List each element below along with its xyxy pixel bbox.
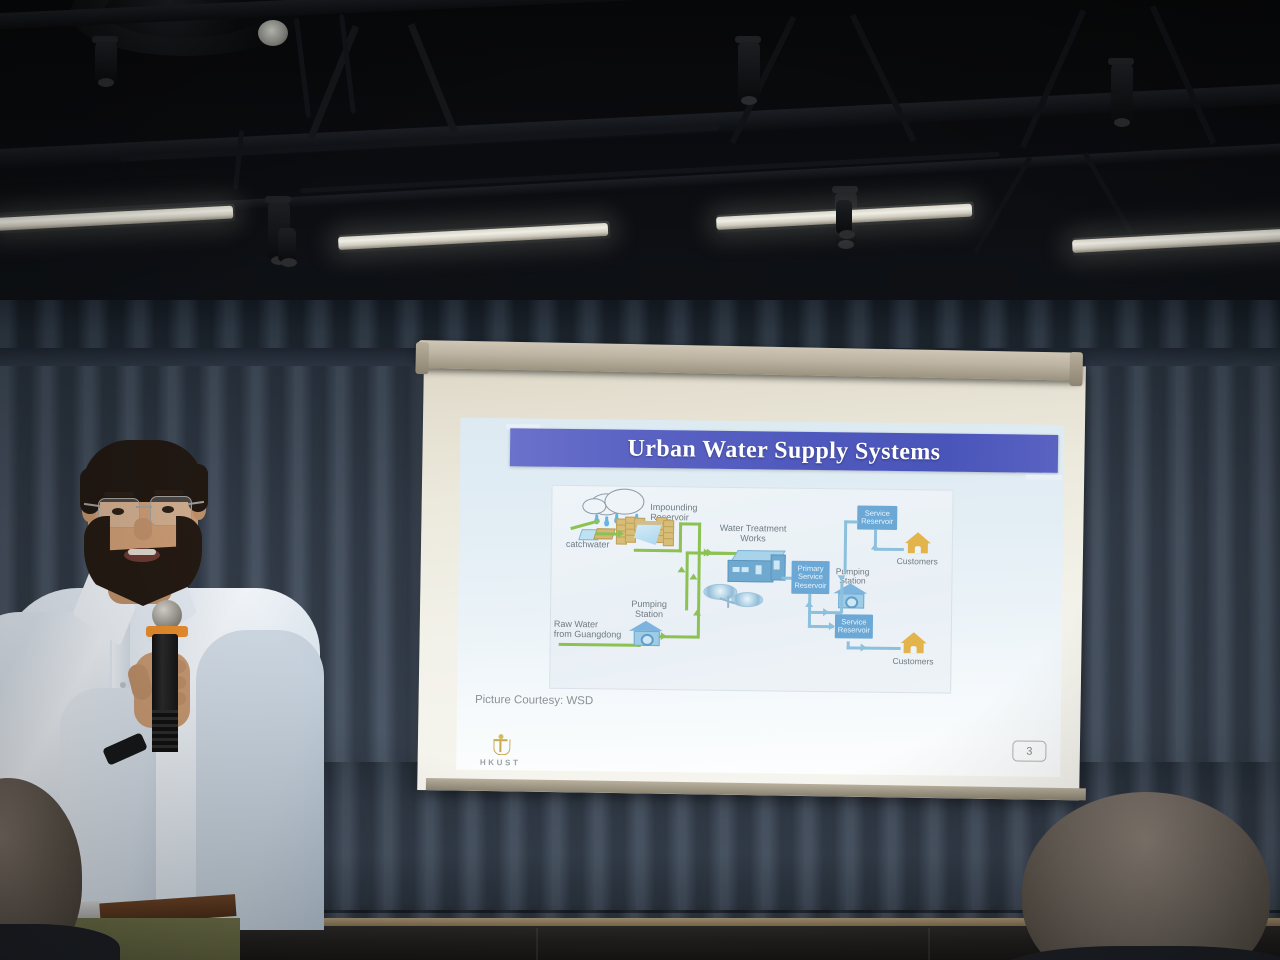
title-notch-right: [1026, 475, 1062, 480]
eyeglasses-bridge: [136, 506, 152, 508]
presenter-eye-right: [162, 506, 174, 513]
flow-arrow-icon: [861, 644, 867, 652]
cloud-icon: [604, 488, 644, 514]
label-customers-lower: Customers: [892, 657, 933, 667]
presenter-teeth: [128, 549, 156, 555]
catchwater-icon: [570, 523, 612, 540]
flow-arrow-icon: [689, 573, 697, 579]
label-pumping-station-left: Pumping Station: [628, 600, 670, 620]
hkust-emblem-icon: [492, 734, 509, 756]
presenter-eyebrow-right: [154, 490, 184, 495]
screen-case-end-left: [415, 342, 429, 374]
ceiling: [0, 0, 1280, 340]
raw-water-pipe-trunk: [697, 523, 701, 611]
screen-case-end-right: [1069, 352, 1083, 386]
raw-water-pipe: [596, 532, 620, 535]
treated-water-pipe: [874, 548, 904, 551]
presenter-eye-left: [112, 508, 124, 515]
page-number-value: 3: [1026, 745, 1032, 757]
floor-seam: [536, 928, 538, 960]
projector-screen-assembly: Urban Water Supply Systems Impounding Re…: [418, 326, 1090, 776]
raw-water-pipe: [732, 552, 734, 555]
cloud-icon: [582, 498, 606, 514]
primary-service-reservoir-box: Primary Service Reservoir: [791, 561, 829, 594]
slide-canvas: Urban Water Supply Systems Impounding Re…: [456, 418, 1064, 777]
hkust-logo-wordmark: HKUST: [474, 758, 526, 768]
pendant-spotlight: [278, 228, 296, 262]
microphone-grip-ridges: [152, 710, 178, 752]
impounding-reservoir-icon: [616, 517, 672, 550]
floor-seam: [928, 928, 930, 960]
treated-water-pipe: [847, 646, 901, 650]
flow-arrow-icon: [618, 530, 624, 538]
slide-title-bar: Urban Water Supply Systems: [510, 428, 1058, 473]
water-treatment-works-icon: [727, 550, 783, 583]
presenter-right-arm: [196, 630, 324, 930]
treated-water-pipe: [844, 520, 848, 572]
label-customers-upper: Customers: [897, 557, 938, 567]
flow-arrow-icon: [805, 601, 813, 607]
presentation-photo: Urban Water Supply Systems Impounding Re…: [0, 0, 1280, 960]
raw-water-pipe: [679, 522, 682, 552]
pendant-spotlight: [836, 200, 852, 234]
truss-diagonal: [408, 23, 459, 137]
presenter-hair: [82, 440, 204, 502]
spotlight-fixture: [738, 42, 760, 100]
raw-water-pipe: [685, 552, 689, 610]
projector-screen-surface: Urban Water Supply Systems Impounding Re…: [417, 356, 1086, 800]
label-water-treatment-works: Water Treatment Works: [718, 524, 788, 544]
treated-water-pipe: [840, 581, 843, 613]
service-reservoir-upper-box: Service Reservoir: [857, 505, 897, 529]
slide-title: Urban Water Supply Systems: [627, 435, 940, 466]
truss-diagonal: [973, 156, 1032, 254]
water-supply-diagram: Impounding Reservoir catchwater: [549, 485, 953, 694]
flow-arrow-icon: [823, 608, 829, 616]
flow-arrow-icon: [678, 566, 686, 572]
pumping-station-icon: [833, 583, 867, 607]
presenter-hair-side-left: [80, 468, 100, 514]
truss-diagonal: [1020, 9, 1086, 148]
label-catchwater: catchwater: [566, 540, 610, 550]
customer-house-icon: [900, 632, 928, 654]
flow-arrow-icon: [837, 575, 845, 581]
pumping-station-icon: [629, 621, 663, 645]
service-reservoir-lower-box: Service Reservoir: [835, 614, 873, 638]
hkust-logo: HKUST: [474, 734, 526, 768]
presenter-nose: [134, 518, 152, 540]
customer-house-icon: [904, 532, 932, 554]
ceiling-conduit-drop: [294, 18, 311, 118]
raw-water-pipe: [634, 549, 682, 553]
flow-arrow-icon: [693, 609, 701, 615]
spotlight-fixture: [95, 42, 117, 82]
picture-courtesy-text: Picture Courtesy: WSD: [475, 694, 593, 707]
label-raw-water-guangdong: Raw Water from Guangdong: [554, 620, 622, 640]
truss-diagonal: [1150, 5, 1216, 144]
spotlight-fixture: [1111, 64, 1133, 122]
presenter-eyebrow-left: [104, 492, 134, 497]
smoke-detector-icon: [258, 20, 288, 46]
slide-page-number: 3: [1012, 740, 1046, 761]
sedimentation-tank-icon: [731, 592, 763, 607]
